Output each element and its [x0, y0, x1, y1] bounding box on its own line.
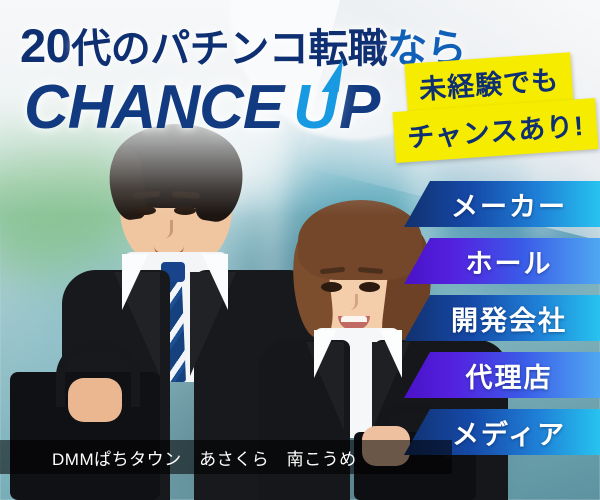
caption-bar: DMMぱちタウン あさくら 南こうめ [0, 440, 452, 474]
category-label: メディア [438, 413, 566, 452]
logotype-chance: CHANCE [24, 73, 283, 142]
caption-text: DMMぱちタウン あさくら 南こうめ [0, 445, 357, 470]
category-label: ホール [452, 242, 553, 281]
advertisement-banner[interactable]: 20代のパチンコ転職なら CHANCEUP 未経験でも チャンスあり! メーカー… [0, 0, 600, 500]
logotype-u: U [293, 72, 337, 143]
category-label: メーカー [437, 185, 567, 224]
page-title: 20代のパチンコ転職なら [20, 16, 466, 74]
category-button-maker[interactable]: メーカー [404, 181, 600, 227]
category-button-hall[interactable]: ホール [404, 238, 600, 284]
category-label: 開発会社 [437, 299, 567, 338]
category-list: メーカー ホール 開発会社 代理店 メディア [404, 181, 600, 466]
headline-number: 20 [20, 19, 71, 72]
category-button-agency[interactable]: 代理店 [404, 352, 600, 398]
category-button-developer[interactable]: 開発会社 [404, 295, 600, 341]
brand-logotype: CHANCEUP [24, 72, 379, 144]
logotype-p: P [339, 73, 379, 142]
category-label: 代理店 [452, 356, 553, 395]
